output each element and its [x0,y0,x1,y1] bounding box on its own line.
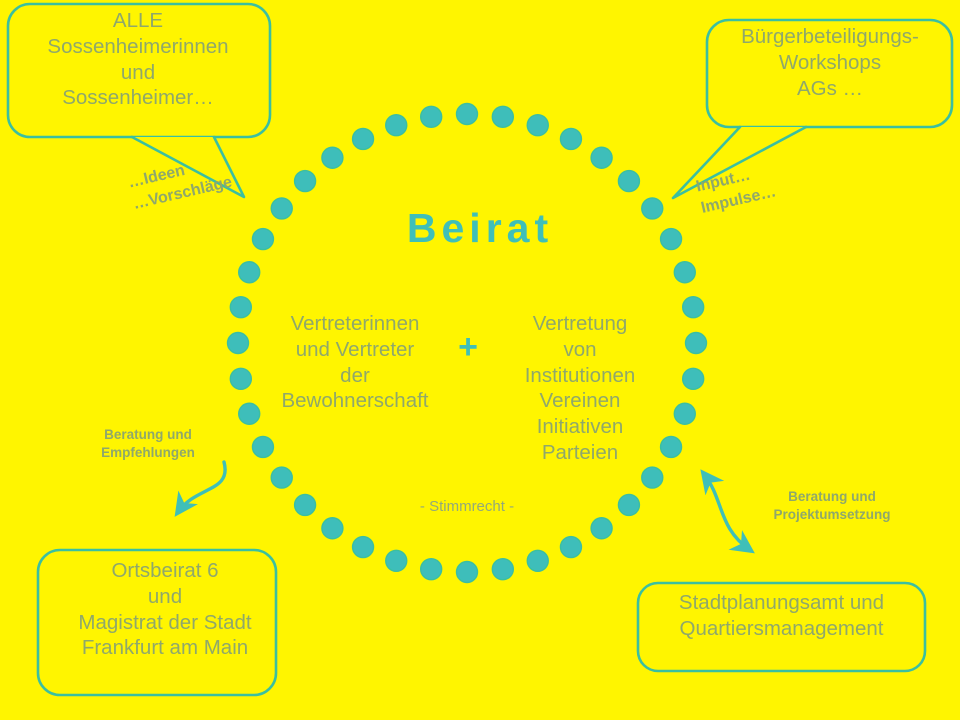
circle-dot [386,115,407,136]
circle-dot [492,106,513,127]
circle-dot [527,550,548,571]
circle-dot [618,171,639,192]
box-ortsbeirat-border [38,550,276,695]
circle-dot [591,518,612,539]
circle-dot [322,518,343,539]
vector-graphics-layer [0,0,960,720]
box-stadtplanung-border [638,583,925,671]
bubble-alle-tail [132,137,244,197]
circle-dot [230,297,251,318]
circle-dot [271,198,292,219]
circle-dot [674,262,695,283]
bubble-buerger-tail [673,127,806,198]
dotted-circle [228,104,707,583]
circle-dot [683,368,704,389]
circle-dot [683,297,704,318]
circle-dot [591,147,612,168]
circle-dot [686,333,707,354]
circle-dot [239,403,260,424]
circle-dot [353,537,374,558]
circle-dot [457,562,478,583]
arrow-beratung-empfehlungen [178,462,225,512]
circle-dot [322,147,343,168]
circle-dot [661,229,682,250]
circle-dot [386,550,407,571]
diagram-canvas: ALLE Sossenheimerinnen und Sossenheimer…… [0,0,960,720]
circle-dot [492,559,513,580]
circle-dot [230,368,251,389]
circle-dot [295,494,316,515]
circle-dot [353,128,374,149]
bubble-alle-border [8,4,270,137]
circle-dot [421,106,442,127]
circle-dot [295,171,316,192]
circle-dot [642,467,663,488]
circle-dot [560,537,581,558]
circle-dot [252,436,273,457]
circle-dot [674,403,695,424]
circle-dot [618,494,639,515]
circle-dot [560,128,581,149]
circle-dot [252,229,273,250]
circle-dot [228,333,249,354]
arrow-beratung-projektumsetzung [704,474,750,550]
circle-dot [642,198,663,219]
circle-dot [271,467,292,488]
circle-dot [527,115,548,136]
circle-dot [661,436,682,457]
circle-dot [457,104,478,125]
circle-dot [239,262,260,283]
circle-dot [421,559,442,580]
bubble-buerger-border [707,20,952,127]
